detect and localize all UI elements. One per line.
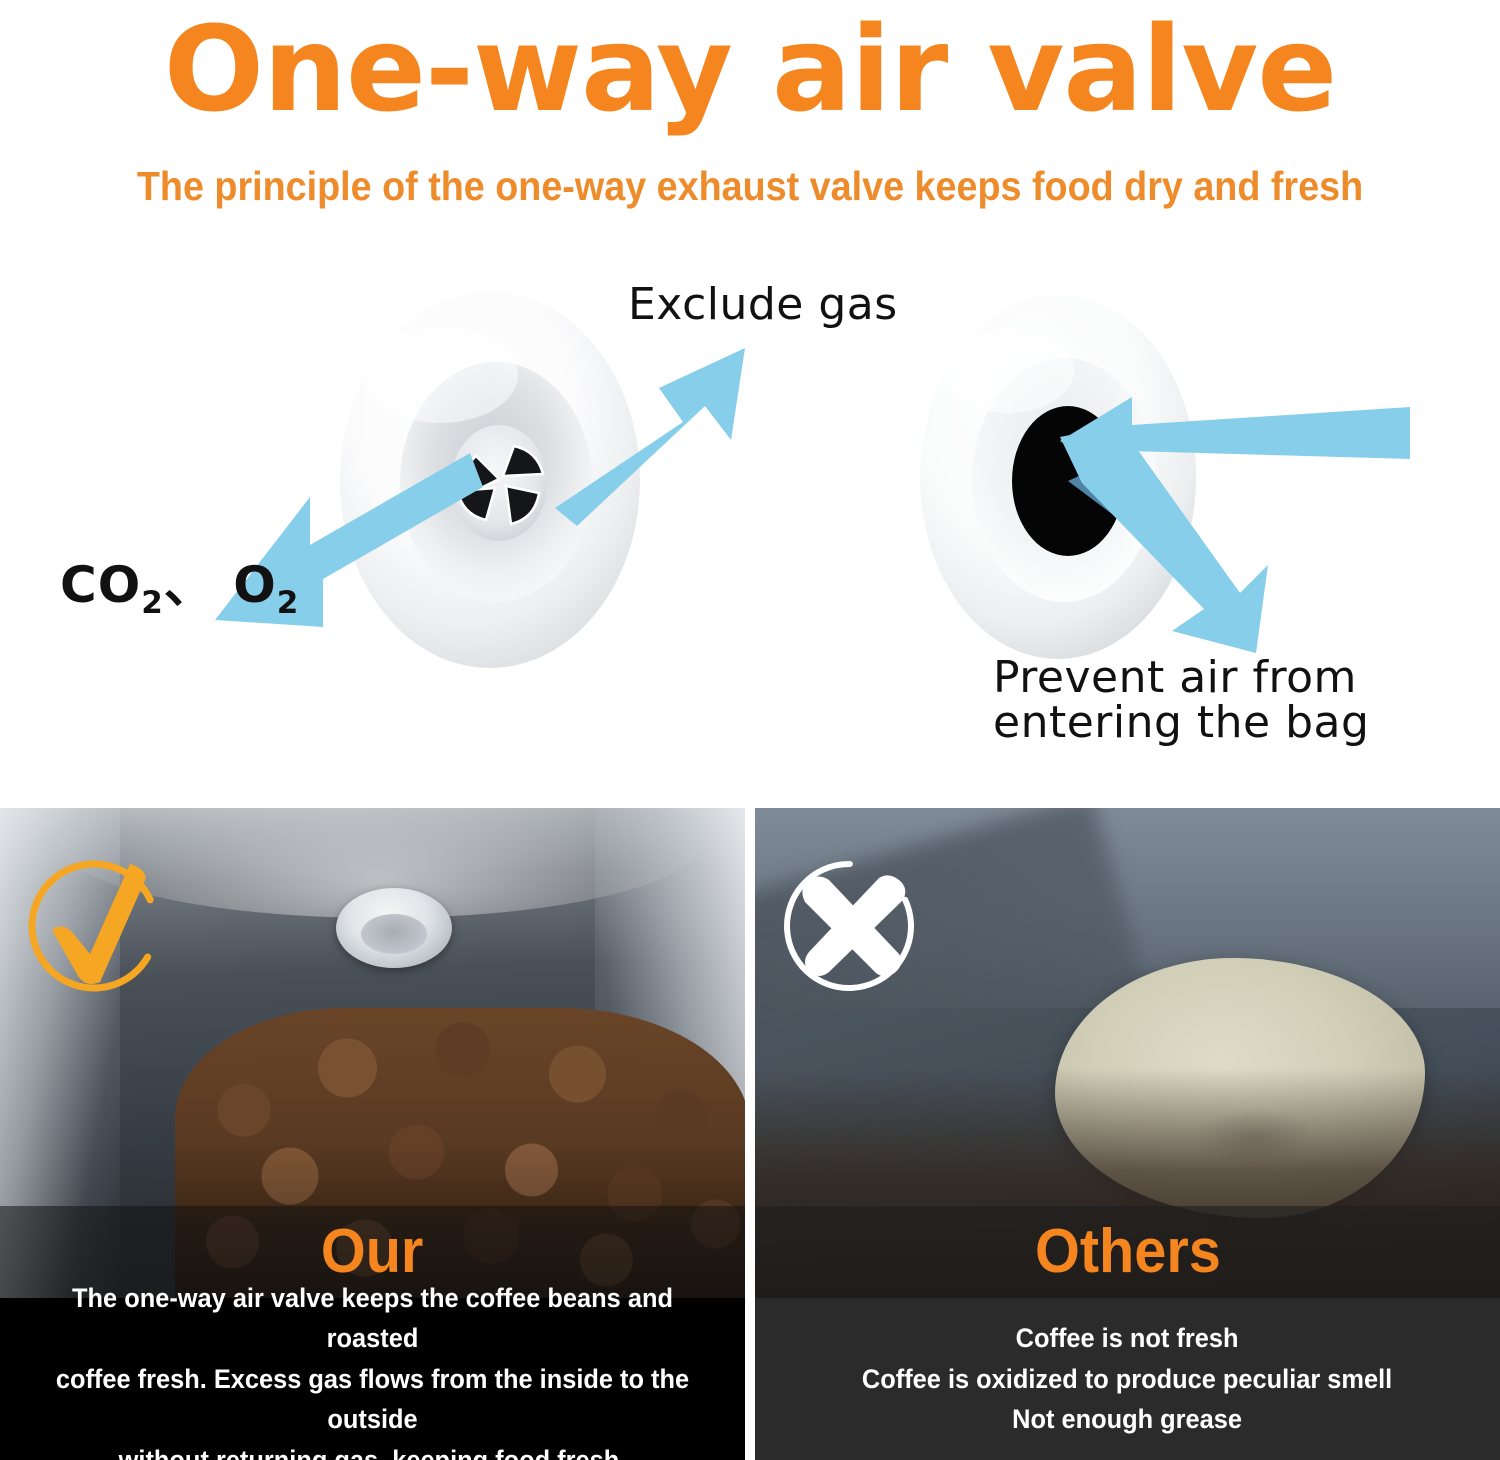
deflected-air-arrow	[1060, 425, 1310, 665]
valve-highlight	[362, 327, 518, 423]
others-caption-text: Coffee is not fresh Coffee is oxidized t…	[862, 1318, 1392, 1440]
others-label: Others	[1035, 1221, 1221, 1283]
others-caption-line-3: Not enough grease	[862, 1399, 1392, 1440]
our-caption-line-2: coffee fresh. Excess gas flows from the …	[49, 1359, 697, 1440]
our-caption-text: The one-way air valve keeps the coffee b…	[49, 1278, 697, 1460]
co2-o2-label: CO2、 O2	[60, 545, 299, 621]
page-subtitle: The principle of the one-way exhaust val…	[60, 163, 1440, 210]
comparison-section: Our The one-way air valve keeps the coff…	[0, 808, 1500, 1460]
prevent-air-line-1: Prevent air from	[993, 655, 1369, 700]
diagram-section: One-way air valve The principle of the o…	[0, 0, 1500, 808]
comparison-panel-others: Others Coffee is not fresh Coffee is oxi…	[755, 808, 1500, 1460]
our-caption-line-3: without returning gas, keeping food fres…	[49, 1440, 697, 1460]
others-caption-line-2: Coffee is oxidized to produce peculiar s…	[862, 1359, 1392, 1400]
prevent-air-line-2: entering the bag	[993, 700, 1369, 745]
others-label-band: Others	[755, 1206, 1500, 1298]
comparison-panel-our: Our The one-way air valve keeps the coff…	[0, 808, 745, 1460]
exclude-gas-arrow	[555, 330, 775, 530]
others-caption: Coffee is not fresh Coffee is oxidized t…	[755, 1298, 1500, 1460]
panel-divider	[745, 808, 755, 1460]
our-caption-line-1: The one-way air valve keeps the coffee b…	[49, 1278, 697, 1359]
valve-highlight	[942, 329, 1074, 413]
prevent-air-label: Prevent air from entering the bag	[993, 655, 1369, 746]
page-title: One-way air valve	[0, 8, 1500, 132]
our-label: Our	[321, 1221, 424, 1283]
others-caption-line-1: Coffee is not fresh	[862, 1318, 1392, 1359]
bag-air-valve	[336, 888, 452, 968]
exclude-gas-label: Exclude gas	[628, 279, 898, 330]
check-badge-icon	[18, 846, 178, 1006]
inbound-gas-arrow	[215, 415, 545, 665]
cross-badge-icon	[773, 846, 933, 1006]
our-caption: The one-way air valve keeps the coffee b…	[0, 1298, 745, 1460]
